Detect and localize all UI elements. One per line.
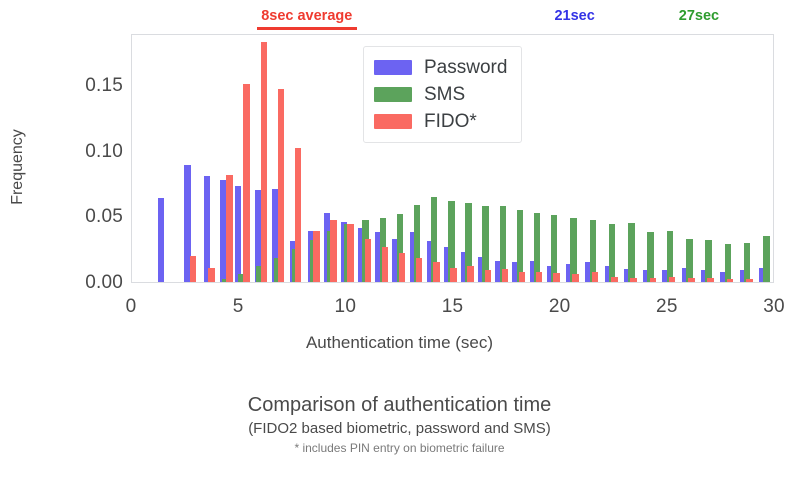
bar-fido-26	[650, 278, 657, 282]
bar-fido-31	[746, 279, 753, 282]
bar-fido-17	[485, 270, 492, 282]
bar-fido-4	[261, 42, 268, 282]
legend-item-sms[interactable]: SMS	[374, 81, 507, 108]
bar-fido-21	[553, 273, 560, 282]
caption-footnote: * includes PIN entry on biometric failur…	[0, 439, 799, 457]
bar-password-4	[235, 186, 242, 282]
y-tick-label-1: 0.05	[85, 206, 123, 228]
legend-item-password[interactable]: Password	[374, 54, 507, 81]
x-tick-label-2: 10	[335, 296, 357, 318]
bar-fido-19	[519, 272, 526, 282]
bar-fido-6	[295, 148, 302, 282]
bar-fido-15	[450, 268, 457, 282]
bar-sms-29	[744, 243, 751, 282]
bar-fido-22	[572, 274, 579, 282]
legend-label-password: Password	[424, 57, 507, 79]
bar-sms-25	[667, 231, 674, 282]
bar-fido-3	[243, 84, 250, 282]
bar-sms-20	[570, 218, 577, 282]
x-tick-label-1: 5	[233, 296, 244, 318]
legend-label-fido: FIDO*	[424, 111, 477, 133]
bar-fido-13	[416, 258, 423, 282]
bar-fido-18	[502, 269, 509, 282]
threshold-label-line-21sec: 21sec	[554, 8, 594, 24]
x-axis-label: Authentication time (sec)	[0, 333, 799, 353]
legend-swatch-password	[374, 60, 412, 75]
bar-fido-23	[592, 272, 599, 282]
bar-fido-28	[688, 278, 695, 282]
threshold-label-line-27sec: 27sec	[679, 8, 719, 24]
bar-sms-23	[628, 223, 635, 282]
bar-fido-16	[467, 266, 474, 282]
bar-fido-30	[727, 279, 734, 282]
bar-fido-12	[399, 253, 406, 282]
bar-fido-2	[226, 175, 233, 282]
x-tick-label-4: 20	[549, 296, 571, 318]
bar-sms-22	[609, 224, 616, 282]
y-tick-label-3: 0.15	[85, 75, 123, 97]
bar-sms-30	[763, 236, 770, 282]
bar-fido-7	[313, 231, 320, 282]
bar-fido-9	[347, 224, 354, 282]
y-axis-label: Frequency	[9, 87, 27, 247]
bar-fido-11	[382, 247, 389, 282]
chart-container: 8sec average21sec27sec 0.000.050.100.15 …	[0, 0, 799, 478]
bar-fido-14	[433, 262, 440, 282]
bar-fido-25	[630, 278, 637, 282]
bar-password-2	[204, 176, 211, 282]
x-tick-label-0: 0	[126, 296, 137, 318]
caption-subtitle: (FIDO2 based biometric, password and SMS…	[0, 418, 799, 439]
bar-fido-10	[365, 239, 372, 282]
x-tick-label-3: 15	[442, 296, 464, 318]
bar-sms-28	[725, 244, 732, 282]
legend-label-sms: SMS	[424, 84, 465, 106]
legend-swatch-fido	[374, 114, 412, 129]
bar-fido-29	[707, 278, 714, 282]
bar-sms-24	[647, 232, 654, 282]
bar-fido-8	[330, 220, 337, 282]
y-tick-label-0: 0.00	[85, 272, 123, 294]
x-tick-label-5: 25	[656, 296, 678, 318]
bar-fido-0	[190, 256, 197, 282]
bar-fido-5	[278, 89, 285, 282]
chart-legend: Password SMS FIDO*	[363, 46, 522, 143]
bar-fido-27	[669, 277, 676, 282]
chart-caption: Comparison of authentication time (FIDO2…	[0, 392, 799, 457]
threshold-underline-average-8sec	[257, 27, 357, 30]
caption-title: Comparison of authentication time	[0, 392, 799, 418]
bar-fido-20	[536, 272, 543, 282]
bar-sms-27	[705, 240, 712, 282]
bar-fido-1	[208, 268, 215, 282]
x-tick-label-6: 30	[763, 296, 785, 318]
y-tick-label-2: 0.10	[85, 141, 123, 163]
legend-swatch-sms	[374, 87, 412, 102]
bar-password-0	[158, 198, 165, 282]
bar-fido-24	[611, 277, 618, 282]
threshold-label-average-8sec: 8sec average	[261, 8, 352, 24]
bar-sms-26	[686, 239, 693, 282]
legend-item-fido[interactable]: FIDO*	[374, 108, 507, 135]
